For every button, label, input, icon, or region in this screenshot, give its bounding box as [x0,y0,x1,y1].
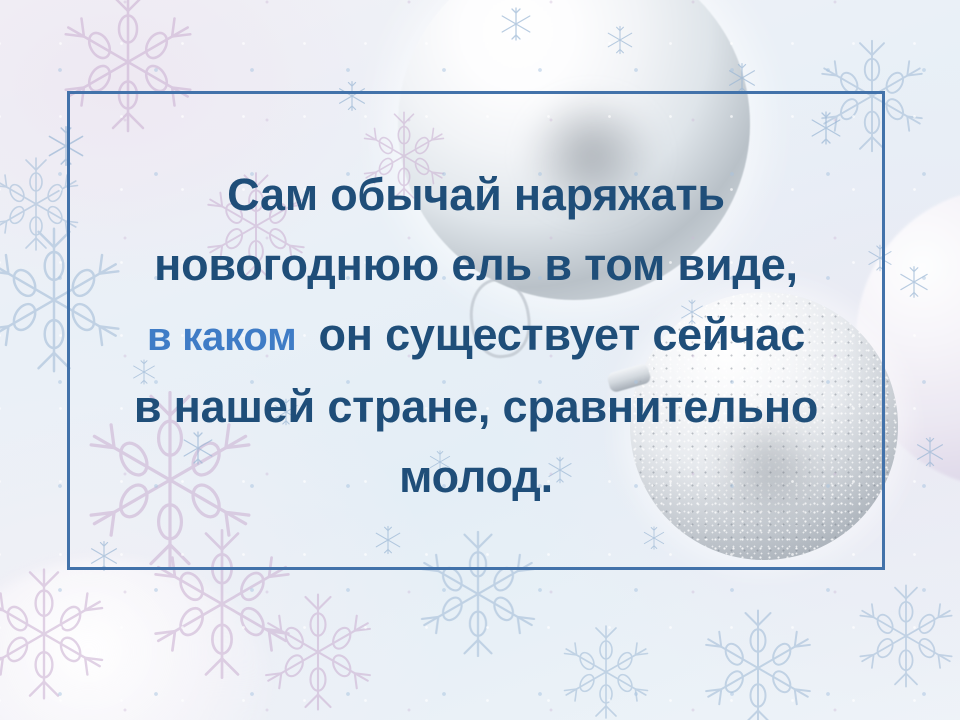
quote-line-3-rest: он существует сейчас [319,309,806,360]
quote-line-1: Сам обычай наряжать [67,160,885,230]
quote-line-4: в нашей стране, сравнительно [67,372,885,442]
quote-highlight-phrase: в каком [147,315,297,359]
quote-line-2: новогоднюю ель в том виде, [67,230,885,300]
quote-line-5: молод. [67,442,885,512]
quote-line-3: в какомон существует сейчас [67,300,885,372]
quote-text-block: Сам обычай наряжать новогоднюю ель в том… [67,160,885,512]
presentation-slide: Сам обычай наряжать новогоднюю ель в том… [0,0,960,720]
